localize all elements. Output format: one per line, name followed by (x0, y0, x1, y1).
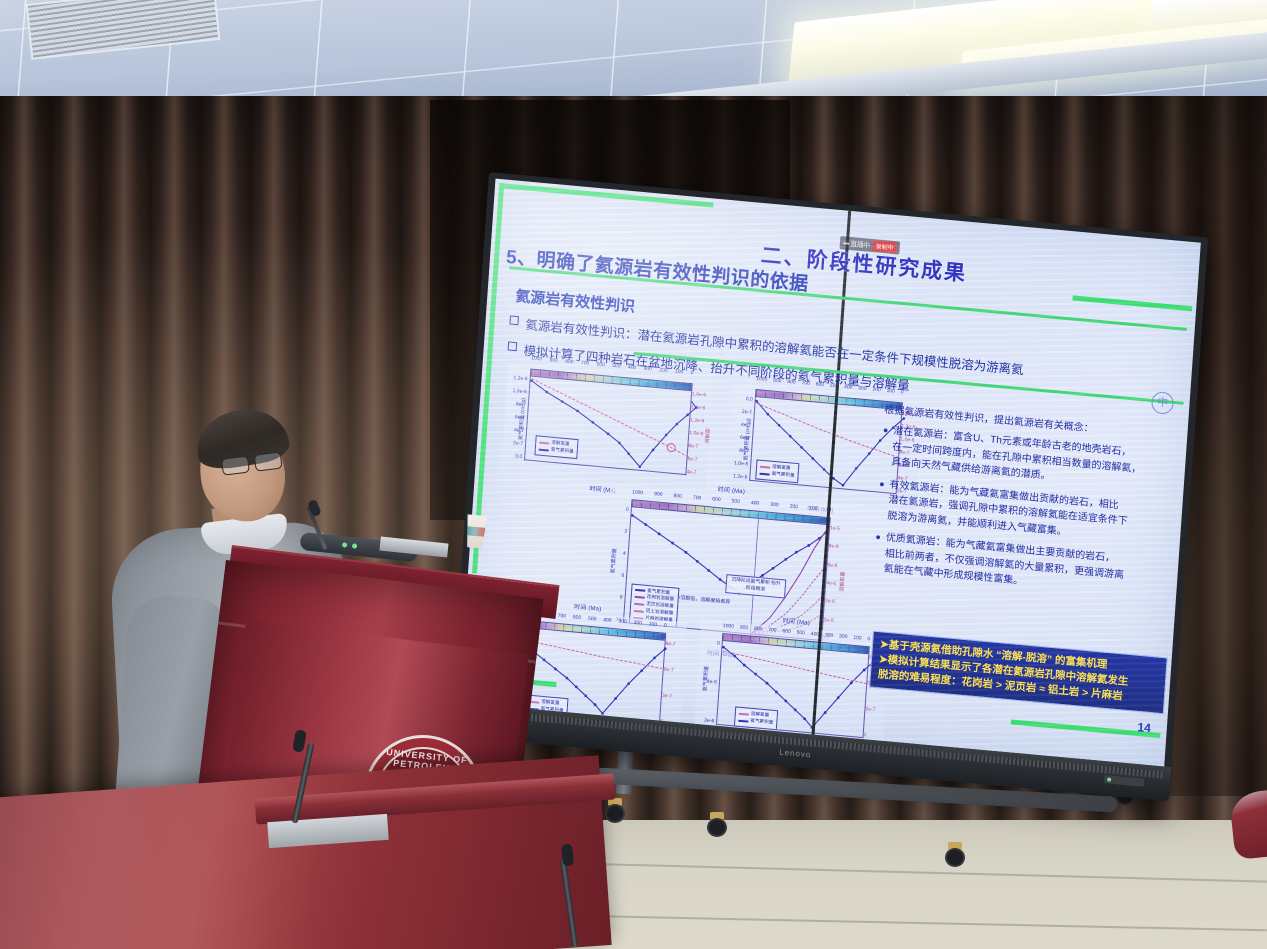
square-bullet-icon (509, 315, 519, 325)
lecture-room-scene: ▪▪▪ 直播中 录制中 二、阶段性研究成果 5、明确了氦源岩有效性判识的依据 氦… (0, 0, 1267, 949)
conclusion-box: ➤基于壳源氦借助孔隙水 “溶解-脱溶” 的富集机理 ➤模拟计算结果显示了各潜在氦… (869, 631, 1168, 714)
presentation-display[interactable]: ▪▪▪ 直播中 录制中 二、阶段性研究成果 5、明确了氦源岩有效性判识的依据 氦… (450, 172, 1209, 801)
stand-caster (706, 812, 728, 838)
display-power-led (1104, 775, 1144, 787)
chart-granite-legend: 溶解氦量 氦气累积量 (534, 435, 578, 459)
slide-page-number: 14 (1137, 720, 1151, 735)
stand-caster (604, 798, 626, 824)
square-bullet-icon (508, 341, 518, 351)
table-microphone-head[interactable] (561, 843, 574, 866)
display-bezel: ▪▪▪ 直播中 录制中 二、阶段性研究成果 5、明确了氦源岩有效性判识的依据 氦… (450, 172, 1209, 801)
chart-shale-legend: 溶解氦量 氦气累积量 (755, 460, 799, 484)
slide-watermark-icon: 中 (1151, 391, 1174, 415)
round-bullet-icon: ● (873, 529, 882, 576)
chart-granite-plot (501, 363, 713, 491)
chart-granite: 10009008007006005004003002001000 1.2e-61… (501, 363, 713, 491)
chart-granite-y2label: 溶解度 (704, 428, 712, 444)
slide-accent-topright (1072, 295, 1192, 311)
slide-subheading: 氦源岩有效性判识 (515, 285, 636, 317)
chart-gneiss-legend: 溶解氦量 氦气累积量 (734, 707, 778, 731)
chart-center-y2label: 溶解氦量 (838, 571, 846, 592)
concepts-panel: 根据氦源岩有效性判识，提出氦源岩有关概念： ● 潜在氦源岩：富含U、Th元素或年… (873, 401, 1184, 603)
stand-caster (944, 842, 966, 868)
display-brand-label: Lenovo (779, 748, 812, 760)
